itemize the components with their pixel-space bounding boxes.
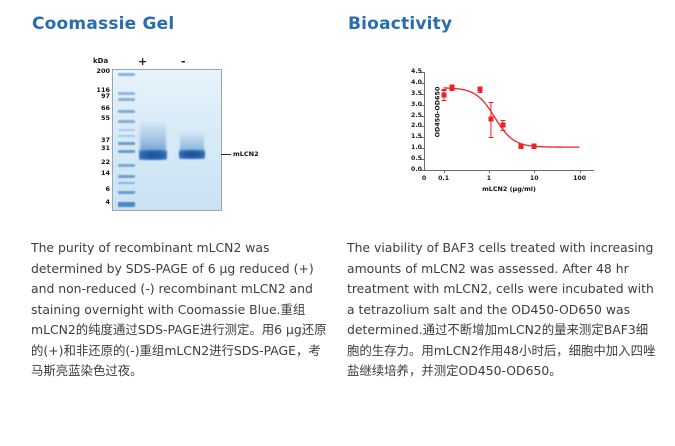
chart-error-bar-cap [441, 100, 446, 101]
bioactivity-dose-response-chart: 0.00.51.01.52.02.53.03.54.04.5 00.111010… [396, 60, 626, 205]
chart-x-axis [424, 170, 594, 171]
gel-band-reduced [139, 150, 167, 160]
chart-data-marker [488, 117, 493, 122]
chart-data-marker [532, 144, 537, 149]
chart-x-tick [489, 170, 490, 173]
chart-x-tick-label: 0 [422, 175, 426, 182]
chart-plot-area: 0.00.51.01.52.02.53.03.54.04.5 00.111010… [424, 72, 594, 170]
chart-x-tick [580, 170, 581, 173]
bioactivity-caption: The viability of BAF3 cells treated with… [347, 238, 659, 382]
chart-error-bar-cap [488, 137, 493, 138]
mw-label-66: 66 [101, 105, 110, 112]
chart-x-tick-label: 100 [573, 175, 586, 182]
chart-y-tick-label: 3.0 [411, 102, 422, 108]
chart-y-tick-label: 0.0 [411, 167, 422, 173]
mw-label-4: 4 [105, 199, 110, 206]
chart-x-tick-label: 0.1 [438, 175, 449, 182]
mw-label-6: 6 [105, 186, 110, 193]
gel-band-annotation-mlcn2: mLCN2 [233, 150, 259, 158]
mw-label-22: 22 [101, 159, 110, 166]
chart-y-tick-label: 2.0 [411, 123, 422, 129]
chart-data-marker [500, 122, 505, 127]
molecular-weight-ladder-labels: 200 116 97 66 55 37 31 22 14 6 4 [90, 67, 112, 209]
chart-error-bar-cap [488, 102, 493, 103]
mw-label-37: 37 [101, 137, 110, 144]
chart-y-tick-label: 1.5 [411, 134, 422, 140]
chart-y-tick-label: 4.5 [411, 69, 422, 75]
chart-error-bar-cap [478, 92, 483, 93]
chart-error-bar-cap [500, 130, 505, 131]
mw-label-55: 55 [101, 115, 110, 122]
figure-page: Coomassie Gel kDa + - 200 116 97 66 55 3… [0, 0, 675, 446]
page-title-bioactivity: Bioactivity [348, 14, 452, 34]
chart-y-tick-label: 0.5 [411, 156, 422, 162]
chart-data-marker [441, 92, 446, 97]
page-title-coomassie-gel: Coomassie Gel [32, 14, 174, 34]
chart-x-axis-title: mLCN2 (µg/ml) [424, 185, 594, 193]
chart-y-tick-label: 3.5 [411, 91, 422, 97]
chart-y-tick-label: 1.0 [411, 145, 422, 151]
chart-y-tick-label: 4.0 [411, 80, 422, 86]
mw-label-200: 200 [96, 68, 110, 75]
chart-data-marker [449, 85, 454, 90]
mw-label-14: 14 [101, 170, 110, 177]
mw-label-31: 31 [101, 145, 110, 152]
chart-y-axis-title: OD450-OD650 [433, 87, 441, 138]
chart-x-tick [444, 170, 445, 173]
gel-unit-label: kDa [93, 57, 108, 65]
gel-ladder-lane [118, 72, 135, 208]
chart-y-tick-label: 2.5 [411, 113, 422, 119]
gel-band-nonreduced [179, 150, 205, 159]
gel-band-smear-reduced [140, 122, 166, 152]
chart-error-bar-cap [441, 89, 446, 90]
chart-x-tick [534, 170, 535, 173]
mw-label-97: 97 [101, 93, 110, 100]
chart-x-tick-label: 1 [487, 175, 491, 182]
coomassie-gel-caption: The purity of recombinant mLCN2 was dete… [31, 238, 331, 382]
chart-x-tick-label: 10 [530, 175, 539, 182]
band-pointer-line [221, 154, 231, 155]
chart-error-bar-cap [500, 120, 505, 121]
gel-lane-header-reduced: + [138, 55, 147, 68]
chart-data-marker [478, 87, 483, 92]
chart-data-marker [518, 144, 523, 149]
gel-lane-header-nonreduced: - [181, 55, 186, 68]
gel-image [112, 69, 222, 211]
coomassie-gel-panel: Coomassie Gel kDa + - 200 116 97 66 55 3… [0, 0, 337, 446]
